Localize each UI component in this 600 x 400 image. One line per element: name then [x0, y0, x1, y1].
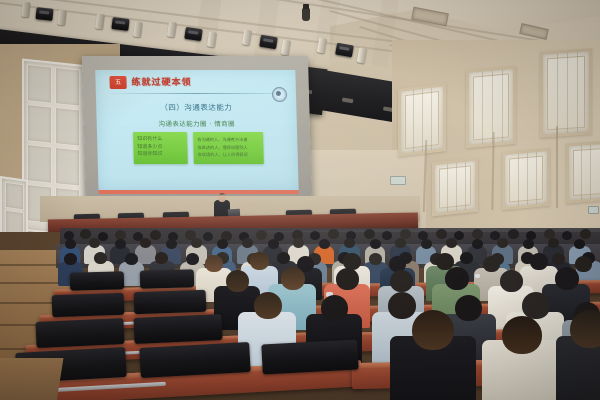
seat-back: [140, 269, 194, 288]
seat-back: [70, 271, 124, 290]
aisle-floor-foreground: [0, 358, 63, 400]
left-green-box: 知识有什么 知道多少点 知道你知识: [133, 132, 188, 164]
seat-back: [133, 314, 222, 344]
acoustic-wall-panel: [540, 48, 592, 138]
projected-slide: 五 练就过硬本领 （四）沟通表达能力 沟通表达能力圈 · 情商圈 知识有什么 知…: [95, 70, 298, 190]
wall-indicator: [390, 176, 406, 185]
light-clamp: [21, 2, 31, 18]
seat-back-foreground: [261, 340, 358, 375]
speaker-head: [218, 193, 226, 202]
acoustic-wall-panel: [432, 158, 478, 217]
slide-subtitle-secondary: 沟通表达能力圈 · 情商圈: [97, 118, 297, 128]
stage-spotlight: [184, 27, 203, 41]
wall-seam: [556, 126, 558, 208]
green-box-line: 知识有什么: [137, 136, 183, 143]
green-box-line: 会沟通的人、沟通有方法者: [197, 136, 259, 143]
projection-screen: 五 练就过硬本领 （四）沟通表达能力 沟通表达能力圈 · 情商圈 知识有什么 知…: [82, 56, 312, 208]
green-box-line: 知道多少点: [137, 143, 183, 150]
ceiling-camera: [302, 8, 310, 21]
slide-divider: [108, 93, 284, 94]
seat-back: [52, 293, 125, 317]
slide-number-badge: 五: [109, 76, 126, 89]
acoustic-wall-panel: [502, 148, 550, 210]
slide-subtitle: （四）沟通表达能力: [96, 102, 296, 113]
stage-spotlight: [259, 35, 278, 50]
green-box-line: 会说话的人、让人听得舒适: [198, 151, 260, 158]
wall-indicator: [588, 206, 599, 214]
seat-back: [134, 290, 207, 314]
seat-back-foreground: [139, 342, 251, 378]
green-box-line: 会表达的人、懂得说服别人: [197, 143, 259, 150]
slide-title: 练就过硬本领: [131, 75, 191, 88]
acoustic-wall-panel: [566, 140, 600, 203]
acoustic-wall-panel: [398, 83, 446, 157]
stage-spotlight: [111, 17, 129, 31]
right-green-box: 会沟通的人、沟通有方法者 会表达的人、懂得说服别人 会说话的人、让人听得舒适: [193, 132, 264, 164]
light-clamp: [57, 10, 67, 26]
lecture-hall-photo: 五 练就过硬本领 （四）沟通表达能力 沟通表达能力圈 · 情商圈 知识有什么 知…: [0, 0, 600, 400]
green-box-line: 知道你知识: [138, 151, 184, 158]
slide-accent-bar: [99, 190, 299, 194]
university-emblem-icon: [272, 87, 287, 102]
stage-spotlight: [35, 7, 53, 21]
seat-back: [35, 318, 124, 348]
acoustic-wall-panel: [466, 66, 516, 148]
